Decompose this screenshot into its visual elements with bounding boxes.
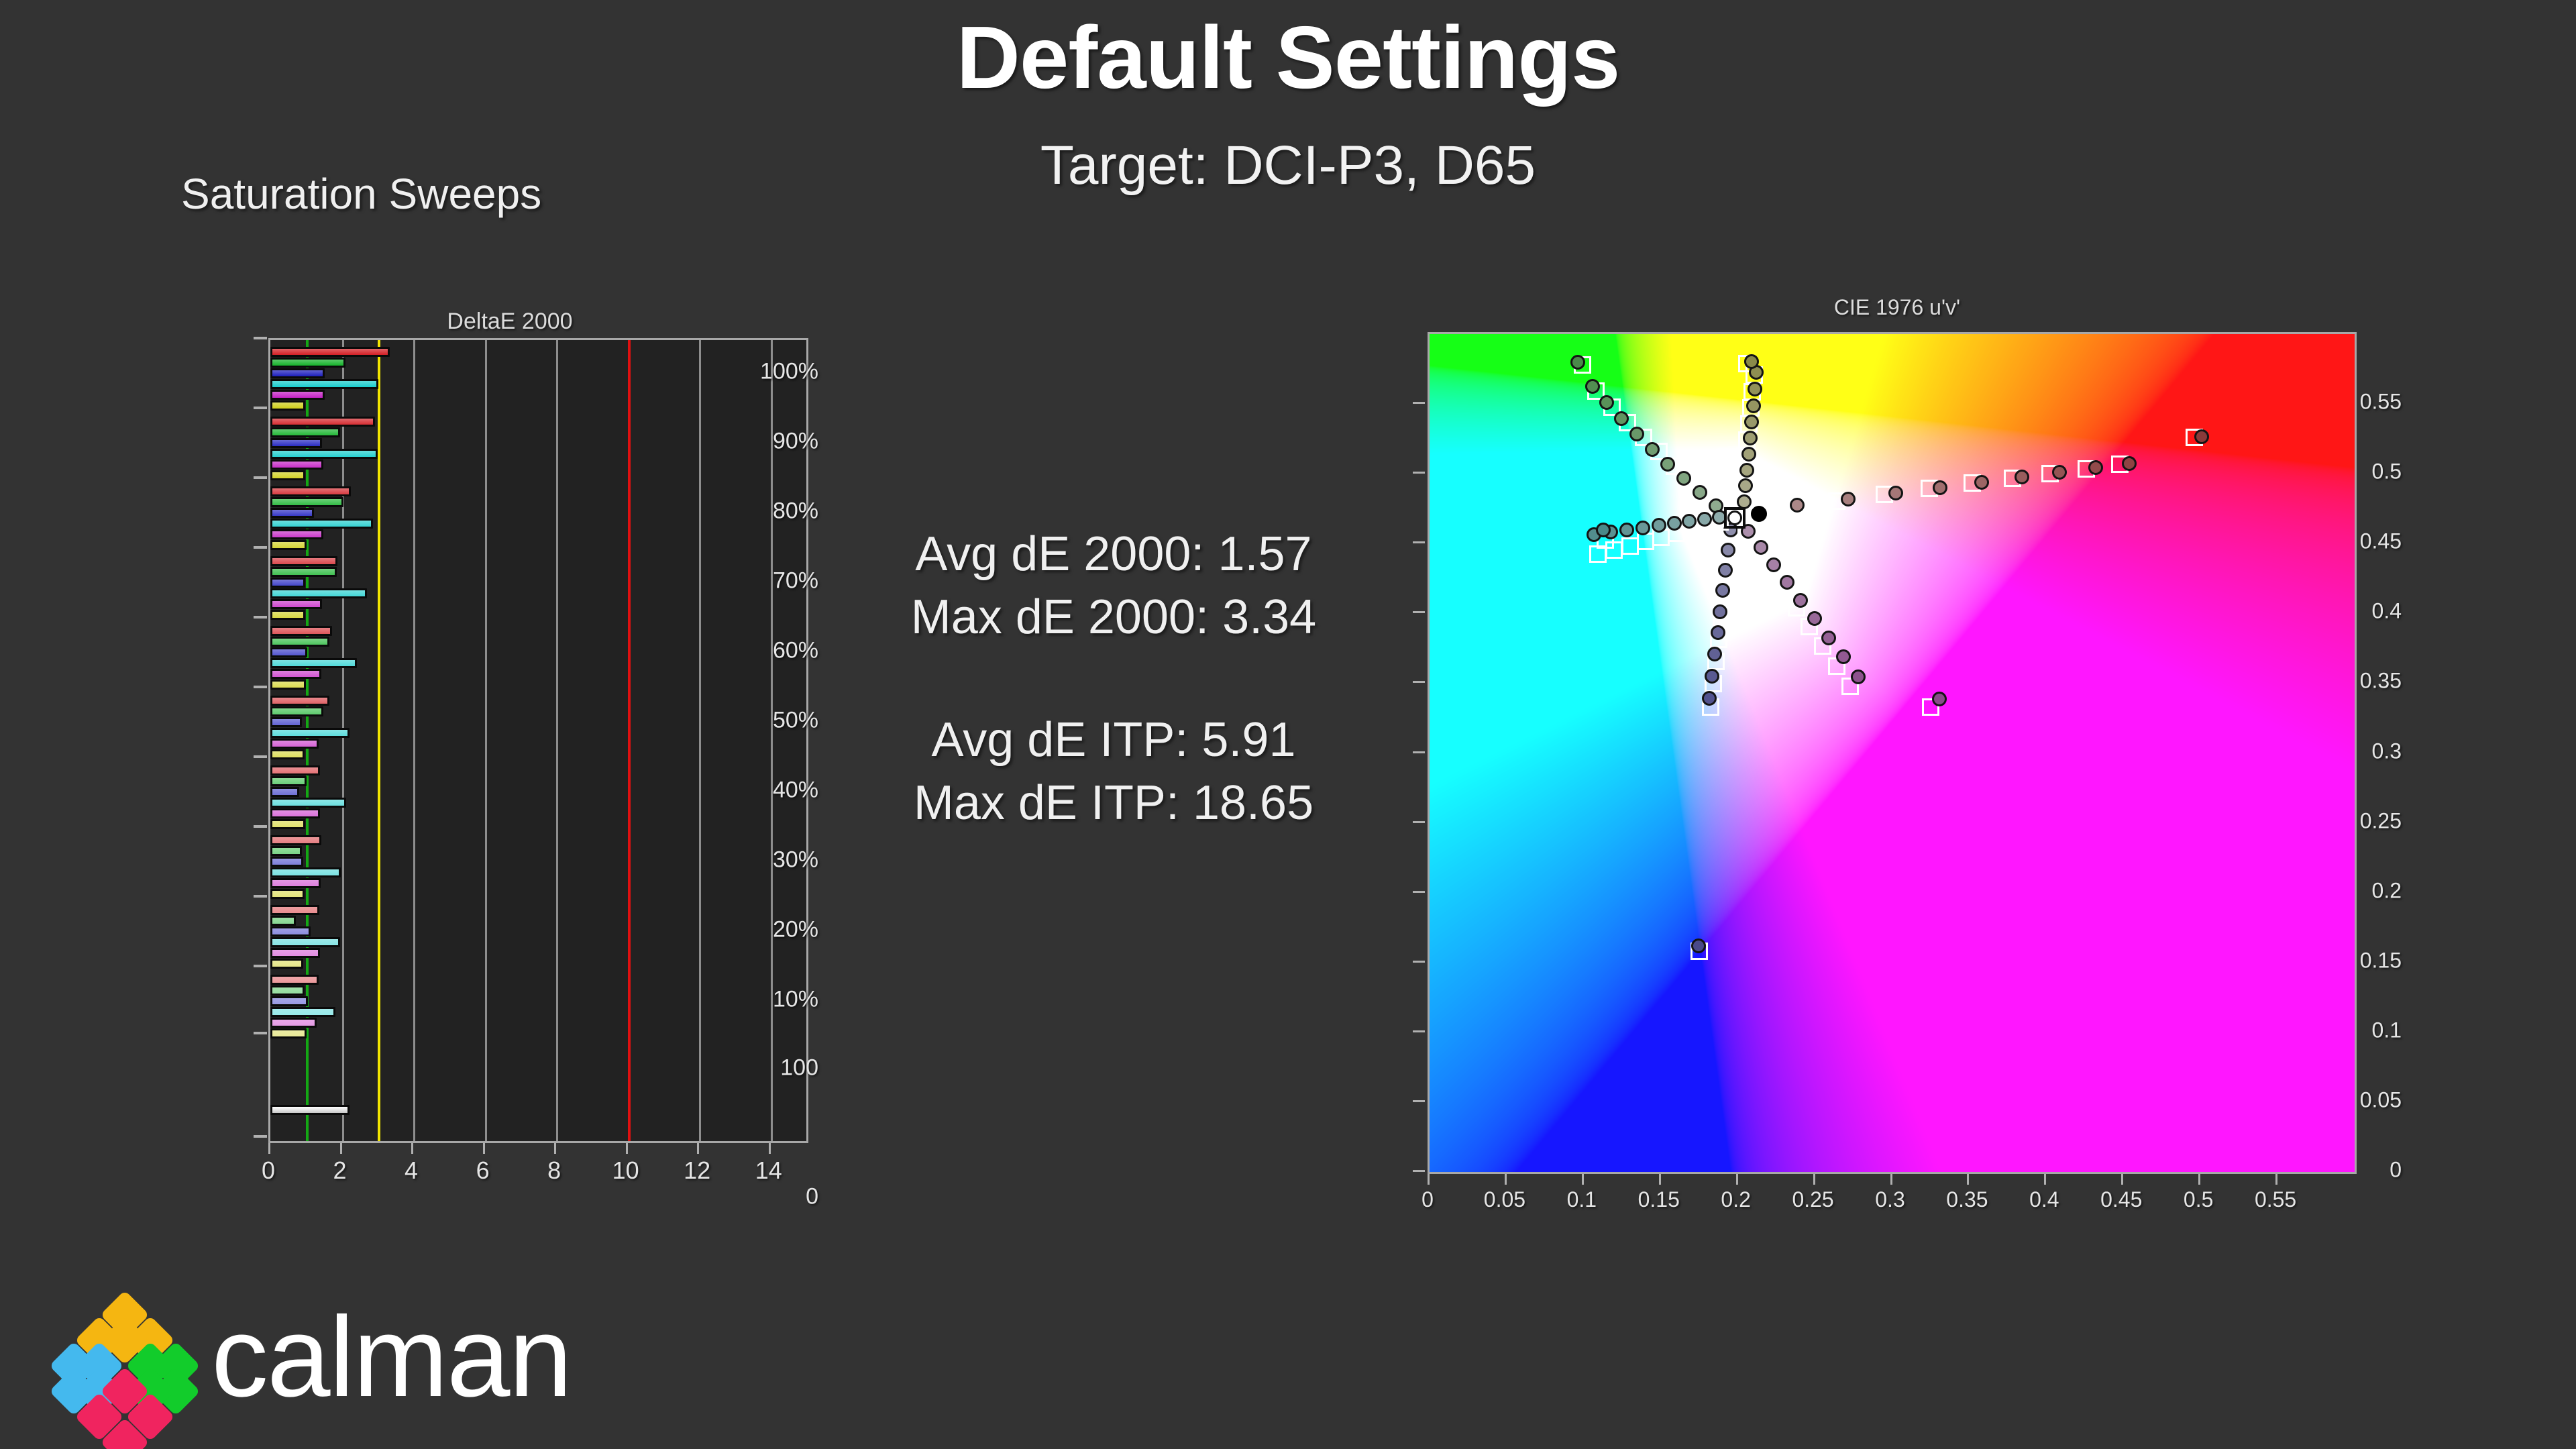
cie-measured-point[interactable]: [1570, 355, 1585, 370]
cie-x-tick: [1582, 1174, 1584, 1185]
cie-measured-point[interactable]: [1585, 379, 1600, 394]
deltae-y-tick: [254, 616, 267, 619]
deltae-y-label: 20%: [754, 917, 818, 943]
deltae-y-tick: [254, 965, 267, 967]
deltae-y-tick: [254, 686, 267, 688]
cie-x-tick: [1813, 1174, 1815, 1185]
deltae-bar[interactable]: [270, 798, 346, 808]
stats-spacer: [872, 649, 1355, 709]
deltae-bar[interactable]: [270, 835, 321, 845]
cie-measured-point[interactable]: [1851, 669, 1866, 684]
deltae-y-tick: [254, 825, 267, 828]
deltae-bar[interactable]: [270, 669, 321, 679]
deltae-bar[interactable]: [270, 706, 323, 716]
deltae-x-label: 12: [667, 1157, 727, 1185]
deltae-bar[interactable]: [270, 749, 305, 759]
deltae-bar[interactable]: [270, 905, 319, 915]
deltae-bar[interactable]: [270, 588, 367, 598]
deltae-bar[interactable]: [270, 846, 302, 856]
deltae-reference-line-fail: [628, 340, 631, 1141]
deltae-x-label: 6: [453, 1157, 513, 1185]
calman-logo[interactable]: calman: [40, 1295, 644, 1429]
deltae-x-tick: [411, 1143, 413, 1154]
cie-measured-point[interactable]: [1821, 631, 1836, 645]
cie-measured-point[interactable]: [1645, 442, 1660, 457]
stat-avg-de2000: Avg dE 2000: 1.57: [872, 523, 1355, 586]
cie-x-tick: [1736, 1174, 1738, 1185]
deltae-bar[interactable]: [270, 529, 323, 539]
cie-y-label: 0.45: [2334, 529, 2402, 554]
cie-measured-point[interactable]: [1596, 523, 1611, 537]
cie-measured-point[interactable]: [1748, 382, 1762, 396]
cie-y-tick: [1413, 1100, 1425, 1102]
deltae-bar[interactable]: [270, 819, 305, 829]
deltae-x-label: 4: [381, 1157, 441, 1185]
cie-x-label: 0.1: [1542, 1187, 1622, 1212]
deltae-plot-area[interactable]: [268, 338, 808, 1143]
cie-y-label: 0.35: [2334, 669, 2402, 694]
cie-measured-point[interactable]: [2015, 470, 2029, 484]
cie-measured-point[interactable]: [1790, 498, 1805, 513]
deltae-x-label: 14: [739, 1157, 799, 1185]
deltae-bar[interactable]: [270, 776, 307, 786]
page-title: Default Settings: [0, 7, 2576, 108]
deltae-x-label: 10: [596, 1157, 656, 1185]
deltae-bar[interactable]: [270, 567, 337, 577]
deltae-bar[interactable]: [270, 347, 390, 357]
cie-measured-point[interactable]: [1667, 516, 1682, 531]
cie-x-tick: [1428, 1174, 1430, 1185]
deltae-bar[interactable]: [270, 696, 329, 706]
cie-measured-point[interactable]: [1932, 692, 1947, 706]
calman-wordmark: calman: [211, 1300, 571, 1414]
deltae-bar[interactable]: [270, 937, 340, 947]
cie-target-box[interactable]: [1637, 533, 1654, 550]
cie-x-tick: [2198, 1174, 2200, 1185]
deltae-chart-title: DeltaE 2000: [201, 309, 818, 335]
cie-y-tick: [1413, 891, 1425, 893]
cie-measured-point[interactable]: [1888, 486, 1903, 500]
deltae-bar[interactable]: [270, 857, 303, 867]
deltae-gridline: [413, 340, 415, 1141]
deltae-bar[interactable]: [270, 680, 306, 690]
cie-y-tick: [1413, 751, 1425, 753]
cie-chart-title: CIE 1976 u'v': [1428, 295, 2367, 320]
cie-y-tick: [1413, 611, 1425, 613]
deltae-y-label: 100: [754, 1055, 818, 1081]
cie-measured-point[interactable]: [1697, 512, 1712, 527]
deltae-y-tick: [254, 755, 267, 758]
deltae-bar[interactable]: [270, 717, 302, 727]
cie-measured-point[interactable]: [2052, 465, 2067, 480]
cie-measured-point[interactable]: [1713, 604, 1727, 619]
section-title-saturation-sweeps: Saturation Sweeps: [181, 169, 541, 219]
cie-measured-point[interactable]: [1974, 475, 1989, 490]
cie-x-label: 0.45: [2081, 1187, 2161, 1212]
cie-chromaticity-chart[interactable]: CIE 1976 u'v' 00.050.10.150.20.250.30.35…: [1355, 295, 2402, 1207]
cie-y-label: 0.2: [2334, 878, 2402, 903]
cie-measured-point[interactable]: [1635, 521, 1650, 535]
cie-gamut-canvas: [1430, 334, 2355, 1172]
stat-max-de2000: Max dE 2000: 3.34: [872, 586, 1355, 649]
cie-y-label: 0.15: [2334, 948, 2402, 973]
cie-measured-point[interactable]: [1718, 563, 1733, 578]
deltae-bar[interactable]: [270, 508, 314, 518]
cie-measured-point[interactable]: [1841, 492, 1856, 506]
deltae-y-tick: [254, 476, 267, 479]
deltae-gridline: [485, 340, 487, 1141]
deltae-bar-white[interactable]: [270, 1105, 350, 1115]
cie-y-label: 0.1: [2334, 1018, 2402, 1042]
deltae-bar[interactable]: [270, 996, 308, 1006]
deltae-bar[interactable]: [270, 728, 350, 738]
deltae-y-label: 80%: [754, 498, 818, 525]
deltae-x-tick: [626, 1143, 628, 1154]
deltae-bar[interactable]: [270, 417, 375, 427]
deltae-bar[interactable]: [270, 889, 305, 899]
cie-x-tick: [1505, 1174, 1507, 1185]
cie-y-tick: [1413, 1030, 1425, 1032]
deltae-bar[interactable]: [270, 1007, 335, 1017]
cie-measured-point[interactable]: [1711, 625, 1725, 640]
deltae-y-tick: [254, 546, 267, 549]
deltae-x-label: 2: [310, 1157, 370, 1185]
deltae-bar[interactable]: [270, 358, 345, 368]
deltae-bar[interactable]: [270, 1028, 307, 1038]
deltae-y-label: 70%: [754, 568, 818, 594]
deltae-bar[interactable]: [270, 610, 305, 620]
cie-measured-point[interactable]: [1676, 471, 1691, 486]
cie-measured-point[interactable]: [1721, 543, 1735, 557]
cie-x-label: 0.5: [2158, 1187, 2239, 1212]
summary-statistics: Avg dE 2000: 1.57Max dE 2000: 3.34Avg dE…: [872, 523, 1355, 835]
deltae-bar[interactable]: [270, 438, 322, 448]
deltae-gridline: [342, 340, 344, 1141]
deltae-bar[interactable]: [270, 470, 305, 480]
cie-x-tick: [1659, 1174, 1661, 1185]
deltae-bar[interactable]: [270, 486, 351, 496]
cie-plot-area[interactable]: [1428, 332, 2357, 1174]
cie-x-label: 0.3: [1850, 1187, 1931, 1212]
deltae-y-label: 100%: [754, 359, 818, 385]
cie-measured-point[interactable]: [1746, 398, 1761, 413]
cie-y-tick: [1413, 1170, 1425, 1172]
deltae-gridline: [771, 340, 773, 1141]
deltae-bar[interactable]: [270, 427, 340, 437]
cie-x-tick: [1967, 1174, 1969, 1185]
cie-measured-point[interactable]: [1629, 427, 1644, 441]
cie-measured-point[interactable]: [1744, 354, 1759, 369]
cie-x-label: 0: [1387, 1187, 1468, 1212]
deltae-bar[interactable]: [270, 626, 332, 636]
deltae-bar[interactable]: [270, 878, 321, 888]
cie-x-label: 0.35: [1927, 1187, 2007, 1212]
deltae-y-label: 60%: [754, 638, 818, 664]
cie-y-tick: [1413, 541, 1425, 543]
cie-measured-point[interactable]: [1836, 649, 1851, 664]
deltae-bar[interactable]: [270, 390, 325, 400]
deltae-gridline: [699, 340, 701, 1141]
cie-x-tick: [1890, 1174, 1892, 1185]
cie-y-label: 0.4: [2334, 599, 2402, 624]
deltae-bar[interactable]: [270, 926, 311, 936]
cie-measured-point[interactable]: [1652, 518, 1666, 533]
cie-x-tick: [2121, 1174, 2123, 1185]
deltae-y-label: 90%: [754, 429, 818, 455]
deltae-bar[interactable]: [270, 556, 337, 566]
deltae-x-label: 0: [238, 1157, 299, 1185]
deltae-bar-chart[interactable]: DeltaE 2000 100%90%80%70%60%50%40%30%20%…: [201, 309, 818, 1207]
cie-measured-point[interactable]: [1693, 485, 1707, 500]
deltae-bar[interactable]: [270, 985, 305, 996]
cie-x-tick: [2275, 1174, 2277, 1185]
deltae-bar[interactable]: [270, 637, 329, 647]
stat-avg-deitp: Avg dE ITP: 5.91: [872, 709, 1355, 772]
cie-y-tick: [1413, 821, 1425, 823]
deltae-bar[interactable]: [270, 808, 320, 818]
deltae-x-tick: [697, 1143, 699, 1154]
cie-x-label: 0.55: [2235, 1187, 2316, 1212]
deltae-bar[interactable]: [270, 658, 357, 668]
deltae-reference-line-warning: [378, 340, 380, 1141]
deltae-bar[interactable]: [270, 975, 319, 985]
cie-y-tick: [1413, 472, 1425, 474]
deltae-bar[interactable]: [270, 765, 320, 775]
deltae-bar[interactable]: [270, 400, 305, 411]
deltae-bar[interactable]: [270, 916, 296, 926]
deltae-gridline: [556, 340, 558, 1141]
cie-measured-point[interactable]: [1933, 480, 1947, 495]
deltae-bar[interactable]: [270, 599, 322, 609]
deltae-x-tick: [769, 1143, 771, 1154]
cie-measured-point[interactable]: [1705, 669, 1719, 684]
deltae-bar[interactable]: [270, 948, 320, 958]
cie-y-label: 0.05: [2334, 1087, 2402, 1112]
deltae-bar[interactable]: [270, 867, 341, 877]
deltae-y-tick: [254, 1032, 267, 1034]
deltae-bar[interactable]: [270, 647, 307, 657]
cie-measured-point[interactable]: [1702, 691, 1717, 706]
deltae-bar[interactable]: [270, 379, 378, 389]
cie-y-label: 0.5: [2334, 460, 2402, 484]
deltae-bar[interactable]: [270, 959, 303, 969]
cie-measured-point[interactable]: [1741, 447, 1756, 462]
deltae-y-tick: [254, 895, 267, 898]
deltae-bar[interactable]: [270, 519, 373, 529]
cie-measured-point[interactable]: [1691, 938, 1706, 953]
stat-max-deitp: Max dE ITP: 18.65: [872, 772, 1355, 835]
deltae-x-label: 8: [524, 1157, 584, 1185]
cie-y-label: 0.55: [2334, 390, 2402, 415]
deltae-bar[interactable]: [270, 460, 323, 470]
cie-y-tick: [1413, 681, 1425, 683]
deltae-bar[interactable]: [270, 578, 305, 588]
cie-x-tick: [2044, 1174, 2046, 1185]
deltae-bar[interactable]: [270, 739, 319, 749]
cie-x-label: 0.25: [1773, 1187, 1854, 1212]
deltae-bar[interactable]: [270, 497, 343, 507]
deltae-x-tick: [340, 1143, 342, 1154]
deltae-bar[interactable]: [270, 449, 378, 459]
cie-measured-point[interactable]: [1660, 457, 1675, 472]
cie-y-tick: [1413, 402, 1425, 404]
cie-y-tick: [1413, 961, 1425, 963]
deltae-y-label: 10%: [754, 987, 818, 1013]
deltae-bar[interactable]: [270, 1018, 317, 1028]
cie-x-label: 0.15: [1619, 1187, 1699, 1212]
deltae-bar[interactable]: [270, 368, 325, 378]
deltae-y-label: 0: [754, 1184, 818, 1210]
deltae-x-tick: [268, 1143, 270, 1154]
deltae-y-tick: [254, 337, 267, 339]
cie-target-box[interactable]: [1621, 537, 1639, 555]
cie-y-label: 0: [2334, 1158, 2402, 1183]
cie-x-label: 0.2: [1696, 1187, 1776, 1212]
deltae-y-label: 40%: [754, 777, 818, 804]
deltae-bar[interactable]: [270, 540, 307, 550]
cie-y-label: 0.25: [2334, 808, 2402, 833]
deltae-x-tick: [554, 1143, 556, 1154]
cie-whitepoint-measured[interactable]: [1727, 511, 1742, 525]
deltae-y-label: 50%: [754, 708, 818, 734]
deltae-y-tick: [254, 1135, 267, 1138]
deltae-y-label: 30%: [754, 847, 818, 873]
deltae-y-tick: [254, 407, 267, 409]
deltae-x-tick: [483, 1143, 485, 1154]
cie-x-label: 0.05: [1464, 1187, 1545, 1212]
deltae-bar[interactable]: [270, 787, 299, 797]
cie-y-label: 0.3: [2334, 739, 2402, 763]
cie-x-label: 0.4: [2004, 1187, 2084, 1212]
